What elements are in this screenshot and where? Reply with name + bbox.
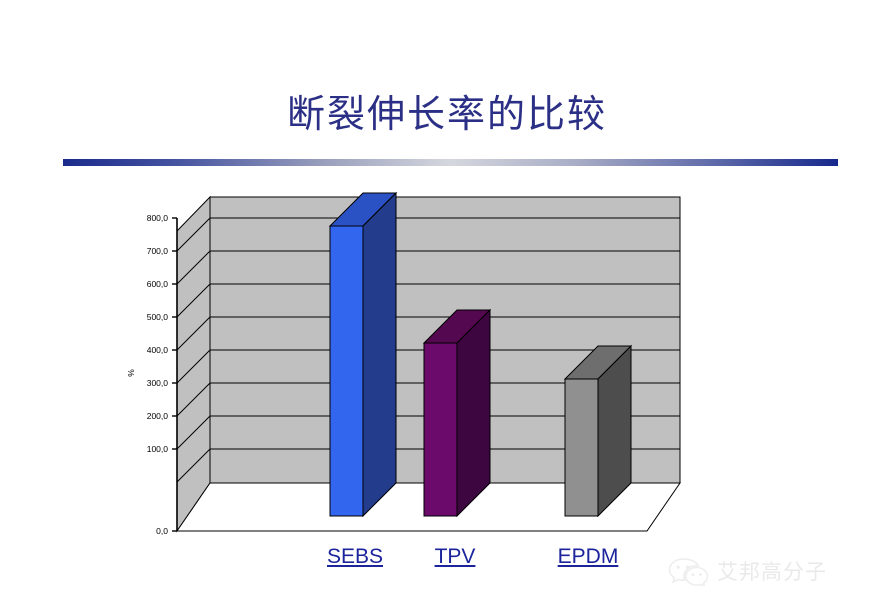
bar-sebs[interactable] bbox=[330, 193, 396, 516]
y-axis-title: % bbox=[126, 369, 136, 377]
wechat-icon bbox=[668, 556, 708, 586]
y-tick-label: 800,0 bbox=[147, 213, 169, 223]
bar-epdm[interactable] bbox=[565, 346, 631, 516]
watermark: 艾邦高分子 bbox=[668, 556, 827, 586]
slide-canvas: 断裂伸长率的比较 bbox=[0, 0, 894, 616]
y-tick-label: 0,0 bbox=[156, 526, 168, 535]
category-label-tpv: TPV bbox=[405, 545, 505, 569]
y-tick-label: 700,0 bbox=[147, 246, 169, 256]
y-tick-label: 100,0 bbox=[147, 444, 169, 454]
bar-epdm-front bbox=[565, 379, 598, 516]
y-tick-label: 400,0 bbox=[147, 345, 169, 355]
y-tick-label: 600,0 bbox=[147, 279, 169, 289]
category-label-epdm: EPDM bbox=[533, 545, 643, 569]
chart-graphic: 800,0 700,0 600,0 500,0 400,0 300,0 200,… bbox=[120, 175, 720, 535]
bar-chart: 800,0 700,0 600,0 500,0 400,0 300,0 200,… bbox=[120, 175, 720, 535]
y-tick-label: 200,0 bbox=[147, 411, 169, 421]
category-label-sebs: SEBS bbox=[300, 545, 410, 569]
chart-side-wall bbox=[177, 197, 210, 531]
bar-tpv-front bbox=[424, 343, 457, 516]
bar-sebs-front bbox=[330, 226, 363, 516]
title-divider bbox=[63, 159, 838, 166]
bar-tpv-side bbox=[457, 310, 490, 516]
bar-tpv[interactable] bbox=[424, 310, 490, 516]
page-title: 断裂伸长率的比较 bbox=[0, 92, 894, 138]
y-tick-label: 300,0 bbox=[147, 378, 169, 388]
y-tick-label: 500,0 bbox=[147, 312, 169, 322]
watermark-label: 艾邦高分子 bbox=[717, 556, 827, 586]
bar-sebs-side bbox=[363, 193, 396, 516]
y-axis-tick-labels: 800,0 700,0 600,0 500,0 400,0 300,0 200,… bbox=[147, 213, 169, 535]
